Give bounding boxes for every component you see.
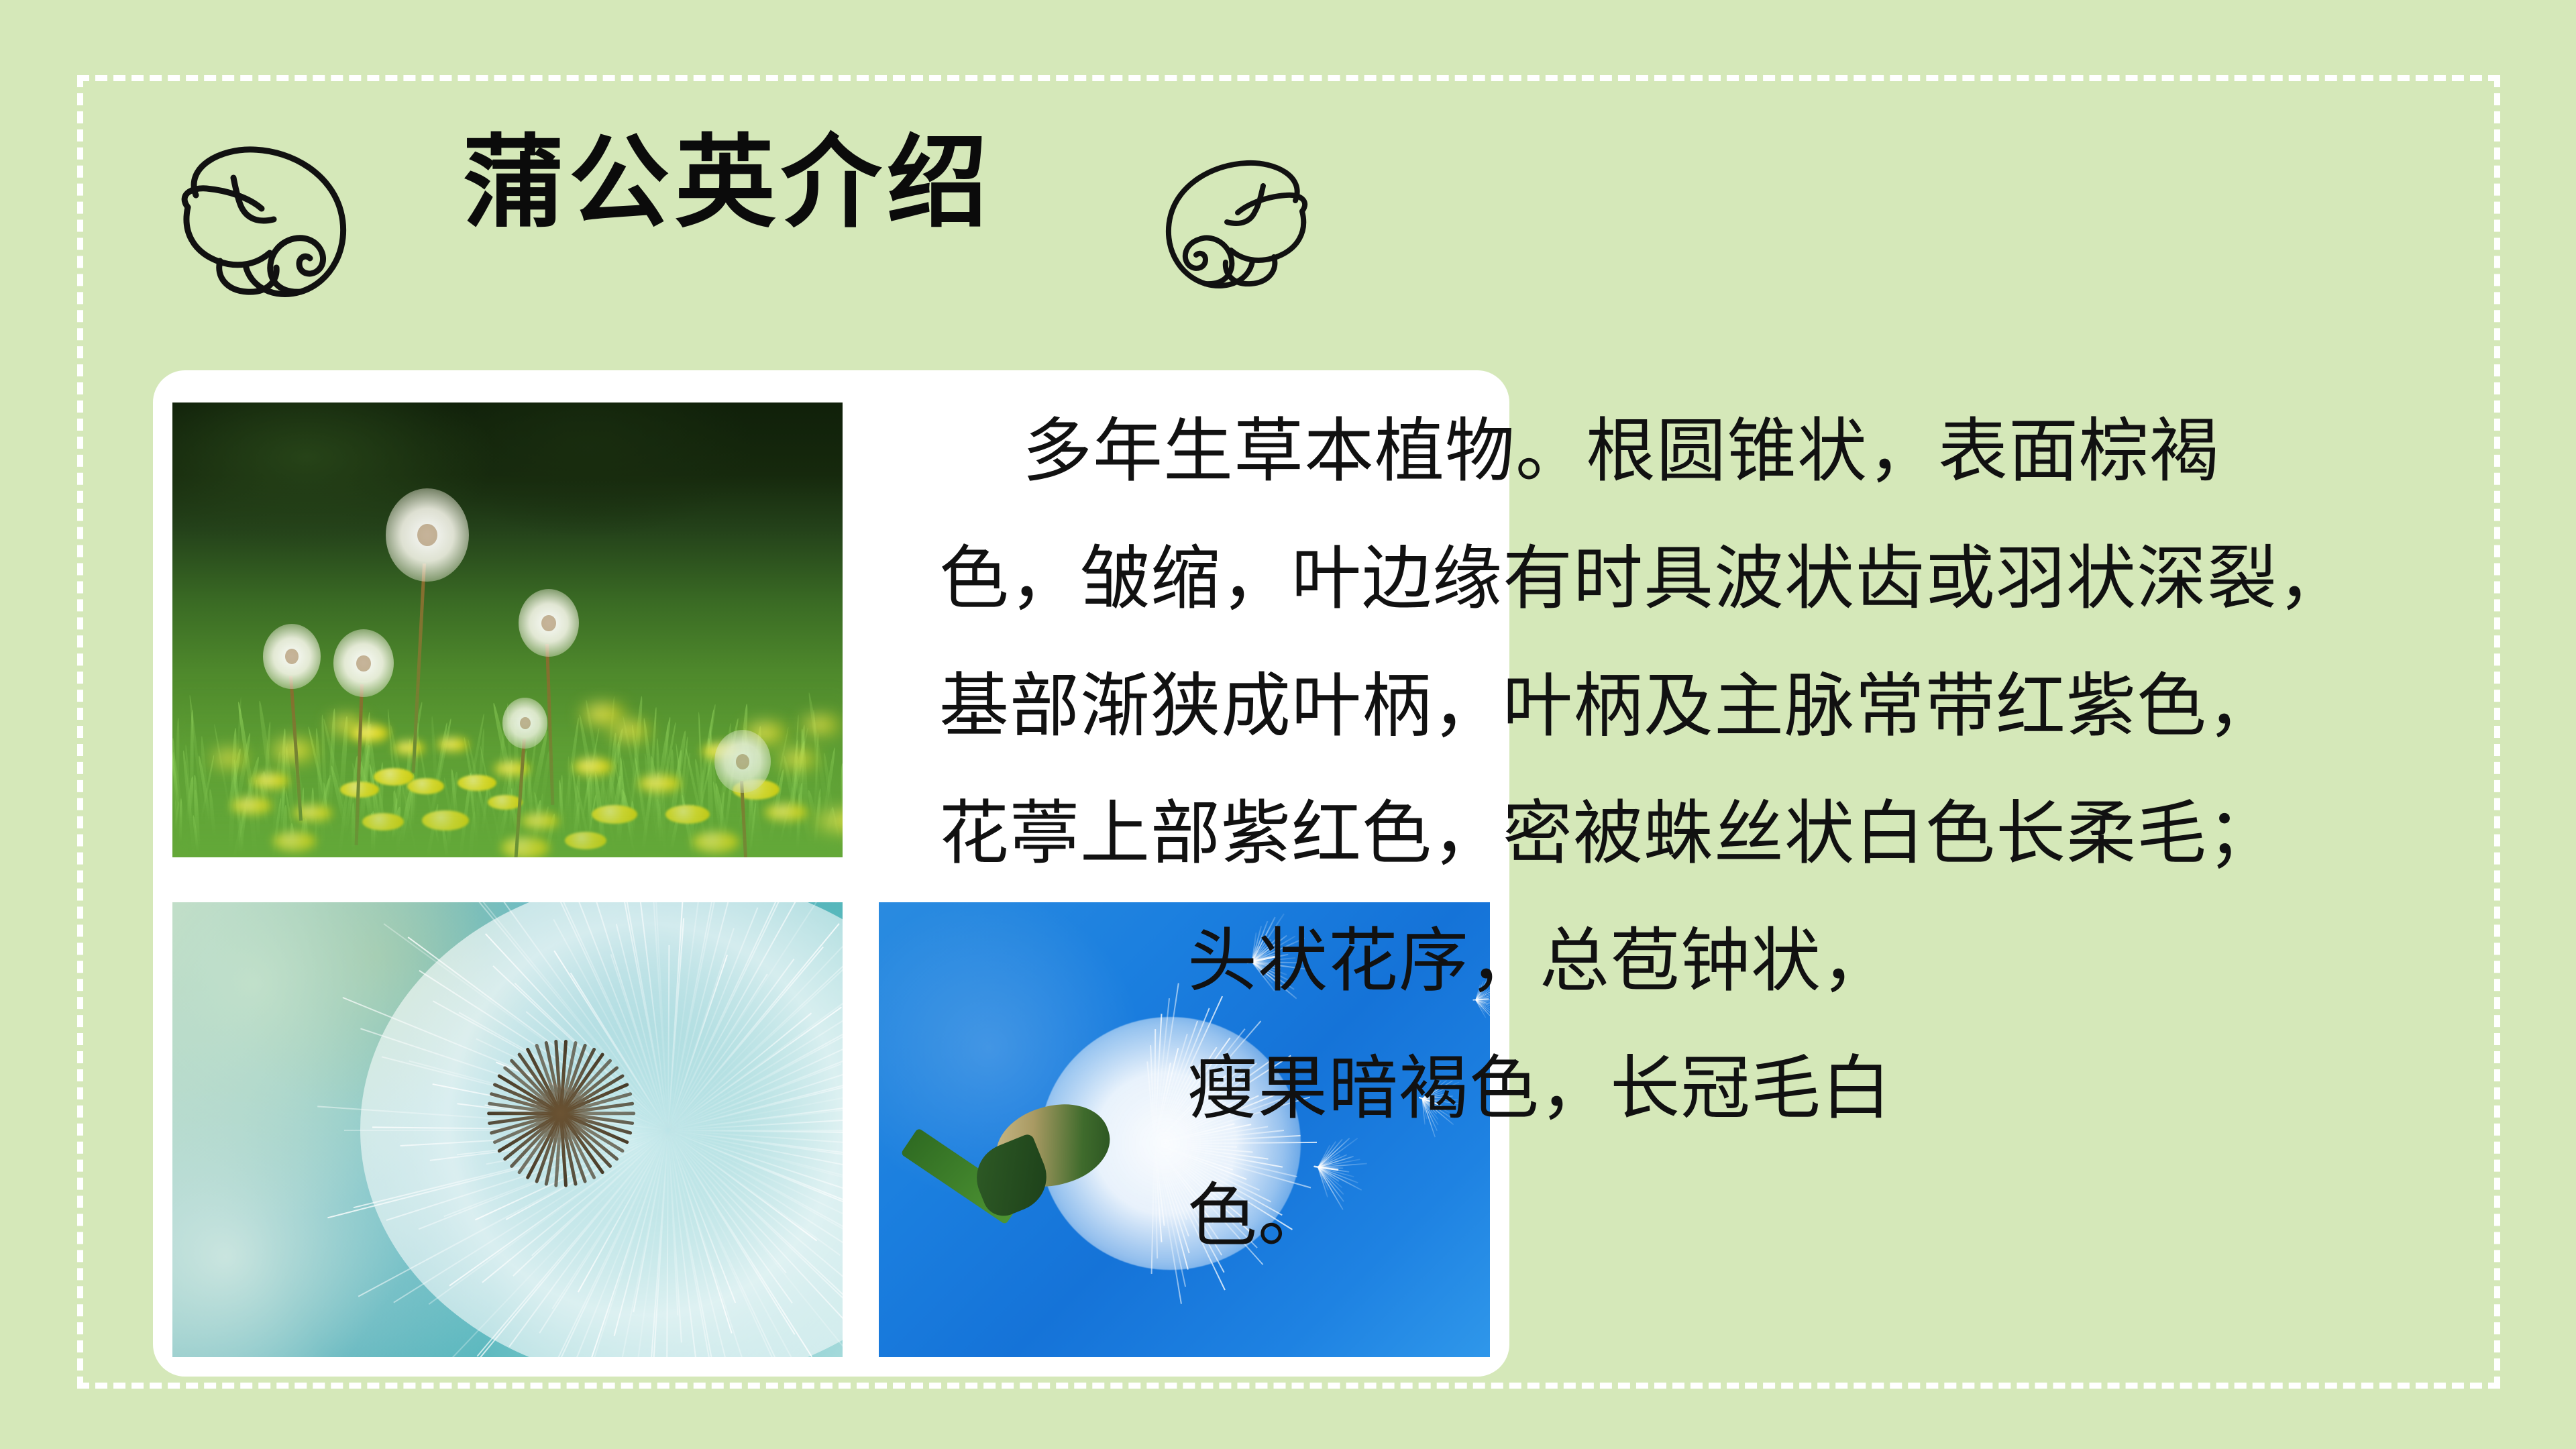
dandelion-seedhead xyxy=(263,624,321,689)
auspicious-cloud-right-icon xyxy=(1157,156,1330,290)
header: 蒲公英介绍 xyxy=(0,124,1409,325)
dandelion-teal-macro-photo xyxy=(172,902,843,1357)
body-copy: 多年生草本植物。根圆锥状，表面棕褐色，皱缩，叶边缘有时具波状齿或羽状深裂，基部渐… xyxy=(939,388,2482,1280)
page-title: 蒲公英介绍 xyxy=(463,132,993,233)
dandelion-seedhead xyxy=(386,488,469,582)
body-copy-line: 基部渐狭成叶柄，叶柄及主脉常带红紫色， xyxy=(939,643,2482,770)
dandelion-meadow-photo xyxy=(172,402,843,857)
body-copy-line: 瘦果暗褐色，长冠毛白 xyxy=(939,1025,2482,1152)
body-copy-line: 头状花序，总苞钟状， xyxy=(939,898,2482,1025)
body-copy-line: 花葶上部紫红色，密被蛛丝状白色长柔毛； xyxy=(939,770,2482,898)
body-copy-line: 色，皱缩，叶边缘有时具波状齿或羽状深裂， xyxy=(939,515,2482,643)
body-copy-line: 多年生草本植物。根圆锥状，表面棕褐 xyxy=(939,388,2482,515)
auspicious-cloud-left-icon xyxy=(156,143,357,301)
dandelion-seedhead xyxy=(519,589,579,657)
body-copy-line: 色。 xyxy=(939,1152,2482,1280)
